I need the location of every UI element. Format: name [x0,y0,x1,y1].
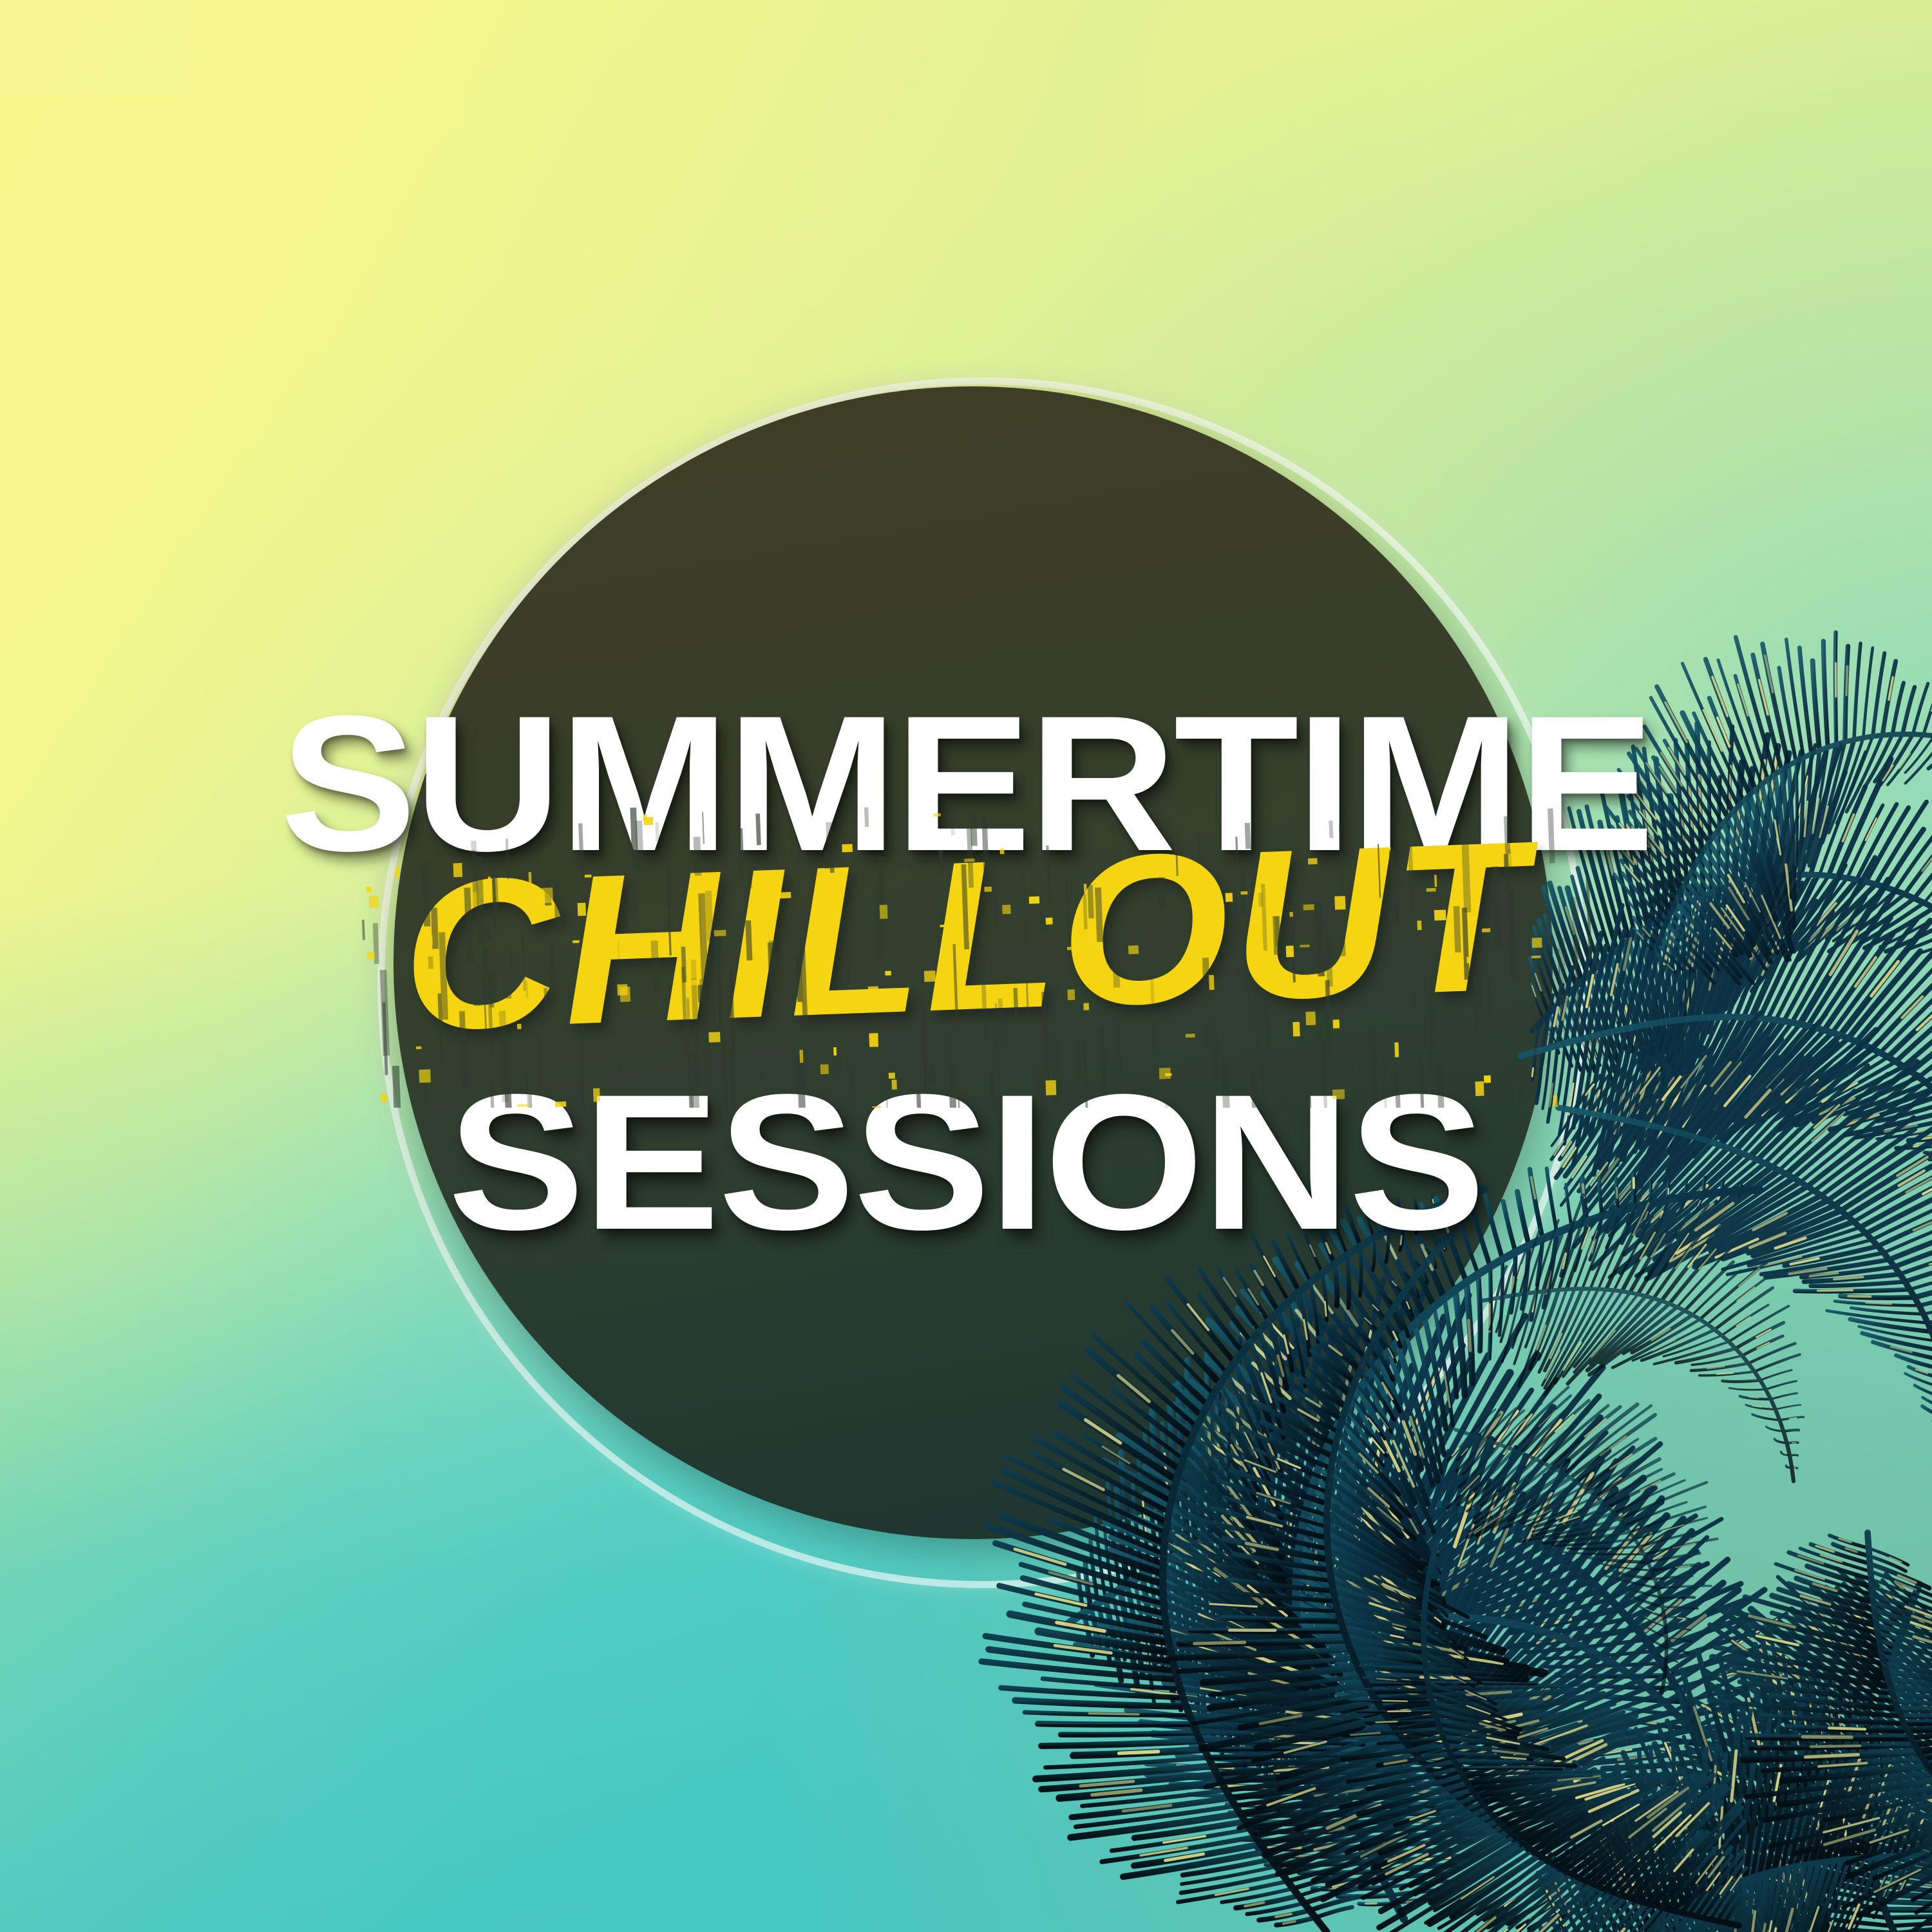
title-block: SUMMERTIME CHILLOUT SESSIONS [0,0,1932,1932]
album-cover: SUMMERTIME CHILLOUT SESSIONS [0,0,1932,1932]
title-line-sessions: SESSIONS [0,1065,1932,1258]
